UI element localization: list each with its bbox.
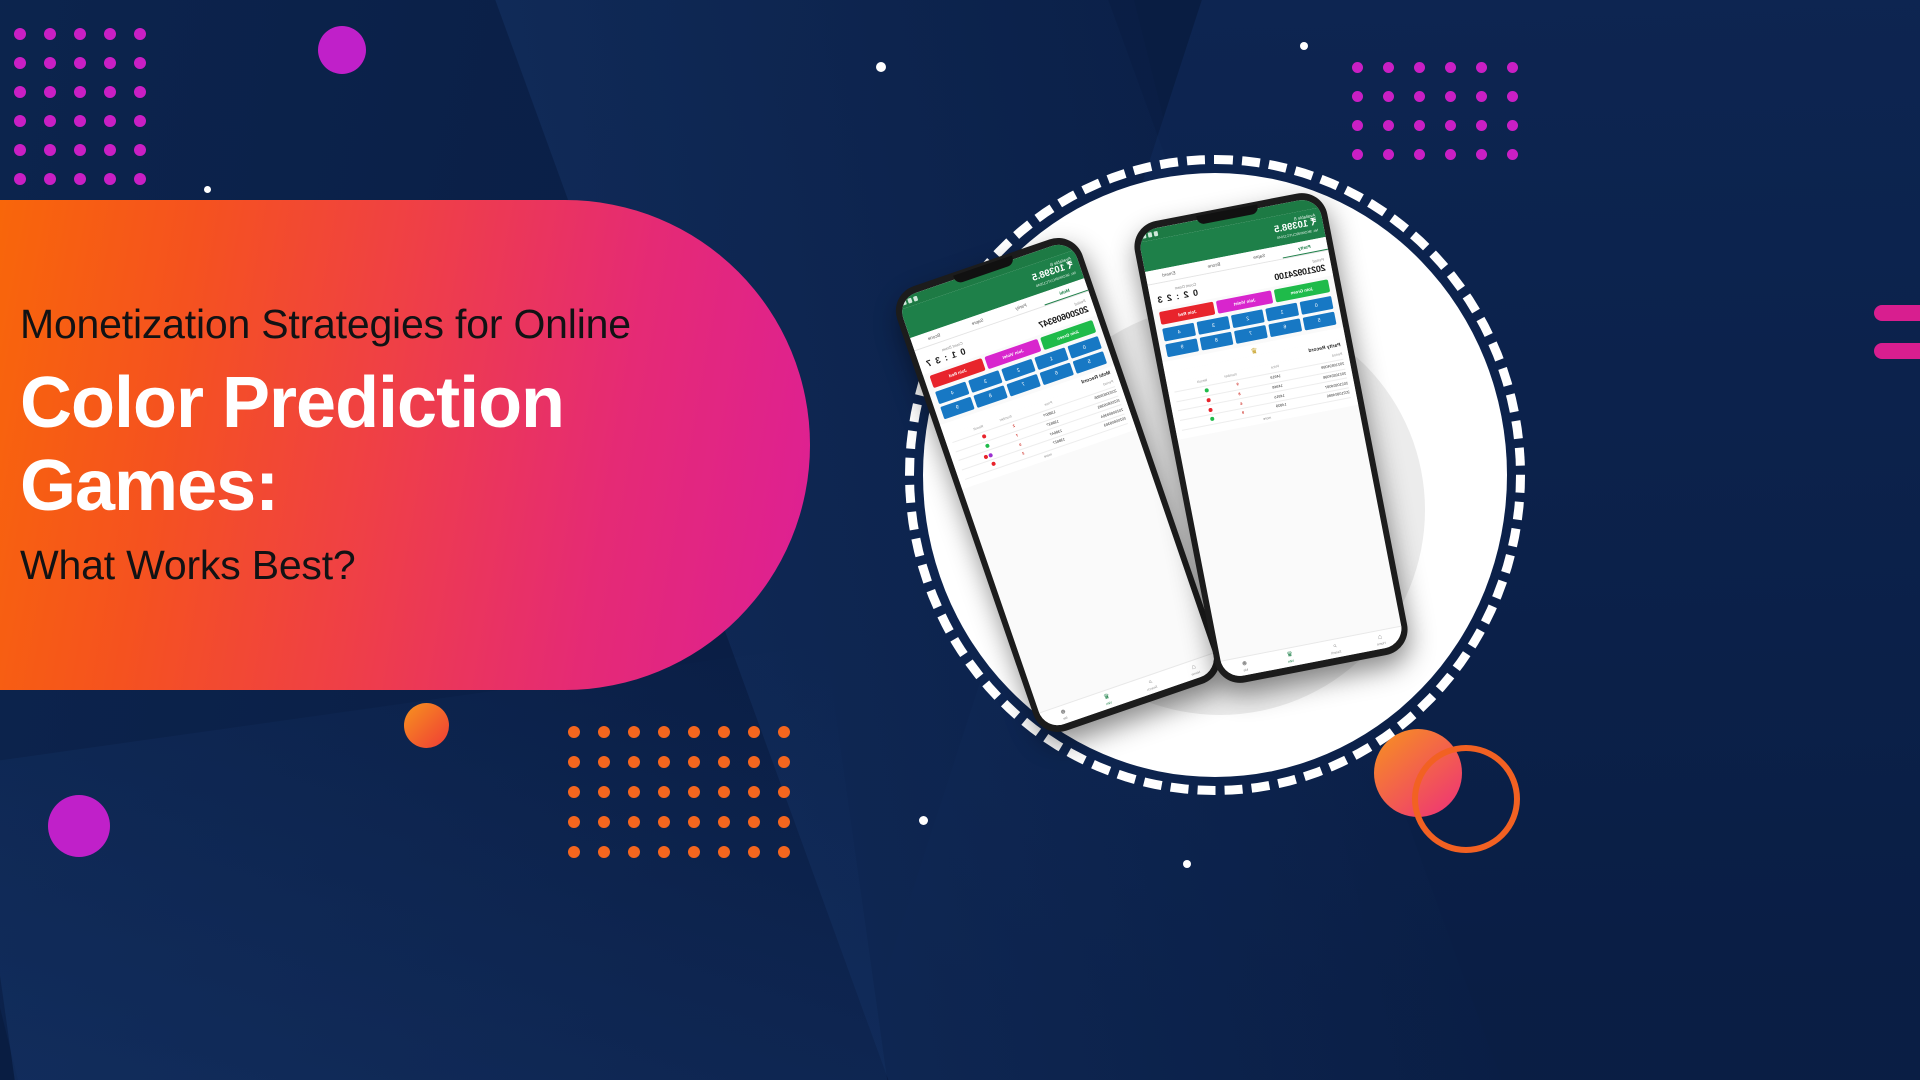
decor-dot: [1352, 62, 1363, 73]
number-button[interactable]: 9: [1165, 338, 1199, 357]
decor-dot: [568, 786, 580, 798]
decor-dot: [718, 756, 730, 768]
nav-item-win[interactable]: ♛Win: [1084, 686, 1131, 712]
decor-circle-magenta-bottom: [48, 795, 110, 857]
decor-dot: [44, 115, 56, 127]
decor-circle-orange-mid: [404, 703, 449, 748]
decor-dot: [598, 846, 610, 858]
decor-dot: [628, 786, 640, 798]
decor-dot: [568, 756, 580, 768]
decor-dot: [658, 756, 670, 768]
decor-dot: [658, 816, 670, 828]
decor-dot: [14, 144, 26, 156]
decor-speck-3: [204, 186, 211, 193]
nav-item-me[interactable]: ☻Me: [1040, 701, 1087, 727]
decor-dot: [688, 816, 700, 828]
decor-circle-magenta-top: [318, 26, 366, 74]
decor-dot: [44, 57, 56, 69]
decor-dot: [748, 726, 760, 738]
decor-dot: [778, 726, 790, 738]
decor-dot: [1352, 120, 1363, 131]
decor-dot: [778, 786, 790, 798]
decor-dot: [104, 57, 116, 69]
decor-dot: [778, 756, 790, 768]
decor-dot: [44, 86, 56, 98]
headline-line-2: Games:: [20, 445, 720, 528]
decor-dot: [748, 816, 760, 828]
decor-dot: [1476, 91, 1487, 102]
decor-dot: [1383, 62, 1394, 73]
decor-dot: [1383, 91, 1394, 102]
decor-dot: [74, 115, 86, 127]
dot-grid-top-left: [14, 28, 164, 202]
number-button[interactable]: 7: [1234, 325, 1268, 344]
decor-dot: [1445, 62, 1456, 73]
decor-dot: [778, 846, 790, 858]
decor-dot: [568, 846, 580, 858]
decor-dot: [134, 115, 146, 127]
decor-dot: [104, 173, 116, 185]
decor-dot: [718, 816, 730, 828]
decor-speck-1: [876, 62, 886, 72]
decor-dot: [1476, 120, 1487, 131]
phone-showcase: Available B ₹ 10398.5 No. 9KOMNRCUTC1204…: [905, 155, 1525, 795]
banner-canvas: Monetization Strategies for Online Color…: [0, 0, 1920, 1080]
decor-dot: [134, 57, 146, 69]
decor-dot: [778, 816, 790, 828]
decor-dot: [688, 786, 700, 798]
decor-dot: [598, 726, 610, 738]
decor-dot: [658, 726, 670, 738]
decor-dot: [14, 115, 26, 127]
decor-dot: [1414, 120, 1425, 131]
decor-dot: [718, 726, 730, 738]
decor-dot: [74, 144, 86, 156]
nav-item-search[interactable]: ⌕Search: [1312, 638, 1359, 659]
decor-dot: [568, 726, 580, 738]
decor-dot: [14, 57, 26, 69]
number-button[interactable]: 8: [1199, 332, 1233, 351]
decor-speck-2: [1300, 42, 1308, 50]
kicker-text: Monetization Strategies for Online: [20, 301, 720, 348]
decor-dot: [1507, 120, 1518, 131]
decor-dot: [134, 28, 146, 40]
number-button[interactable]: 5: [1302, 312, 1336, 331]
decor-dot: [134, 144, 146, 156]
decor-dot: [628, 846, 640, 858]
decor-dot: [1352, 91, 1363, 102]
decor-dot: [688, 846, 700, 858]
decor-dot: [14, 173, 26, 185]
decor-dot: [44, 173, 56, 185]
edge-bar-top: [1874, 305, 1920, 321]
subline-text: What Works Best?: [20, 542, 720, 589]
decor-dot: [598, 816, 610, 828]
decor-dot: [1507, 62, 1518, 73]
decor-dot: [1445, 91, 1456, 102]
decor-dot: [688, 756, 700, 768]
decor-dot: [1383, 120, 1394, 131]
nav-item-home[interactable]: ⌂Home: [1357, 629, 1404, 650]
number-button[interactable]: 6: [1268, 318, 1302, 337]
nav-item-me[interactable]: ☻Me: [1221, 655, 1268, 676]
decor-dot: [134, 173, 146, 185]
decor-dot: [1507, 91, 1518, 102]
nav-item-win[interactable]: ♛Win: [1266, 647, 1313, 668]
decor-dot: [74, 86, 86, 98]
decor-dot: [44, 28, 56, 40]
decor-dot: [598, 756, 610, 768]
decor-dot: [748, 846, 760, 858]
decor-dot: [658, 846, 670, 858]
decor-dot: [1445, 120, 1456, 131]
decor-dot: [1414, 91, 1425, 102]
decor-speck-4: [919, 816, 928, 825]
decor-dot: [718, 786, 730, 798]
decor-dot: [1476, 62, 1487, 73]
decor-dot: [598, 786, 610, 798]
decor-dot: [14, 86, 26, 98]
decor-speck-5: [1183, 860, 1191, 868]
decor-dot: [688, 726, 700, 738]
decor-dot: [74, 173, 86, 185]
decor-dot: [658, 786, 670, 798]
decor-dot: [748, 786, 760, 798]
decor-dot: [104, 28, 116, 40]
decor-dot: [628, 816, 640, 828]
nav-item-home[interactable]: ⌂Home: [1171, 656, 1218, 682]
decor-dot: [44, 144, 56, 156]
decor-dot: [628, 756, 640, 768]
dot-grid-bottom-center: [568, 726, 808, 876]
decor-dot: [568, 816, 580, 828]
decor-dot: [74, 28, 86, 40]
nav-item-search[interactable]: ⌕Search: [1127, 671, 1174, 697]
decor-dot: [104, 115, 116, 127]
decor-dot: [74, 57, 86, 69]
decor-dot: [104, 86, 116, 98]
decor-dot: [134, 86, 146, 98]
decor-dot: [1414, 62, 1425, 73]
decor-dot: [718, 846, 730, 858]
decor-dot: [14, 28, 26, 40]
decor-dot: [104, 144, 116, 156]
headline-line-1: Color Prediction: [20, 362, 720, 445]
decor-dot: [628, 726, 640, 738]
headline-panel: Monetization Strategies for Online Color…: [0, 200, 810, 690]
decor-dot: [748, 756, 760, 768]
edge-bar-bottom: [1874, 343, 1920, 359]
